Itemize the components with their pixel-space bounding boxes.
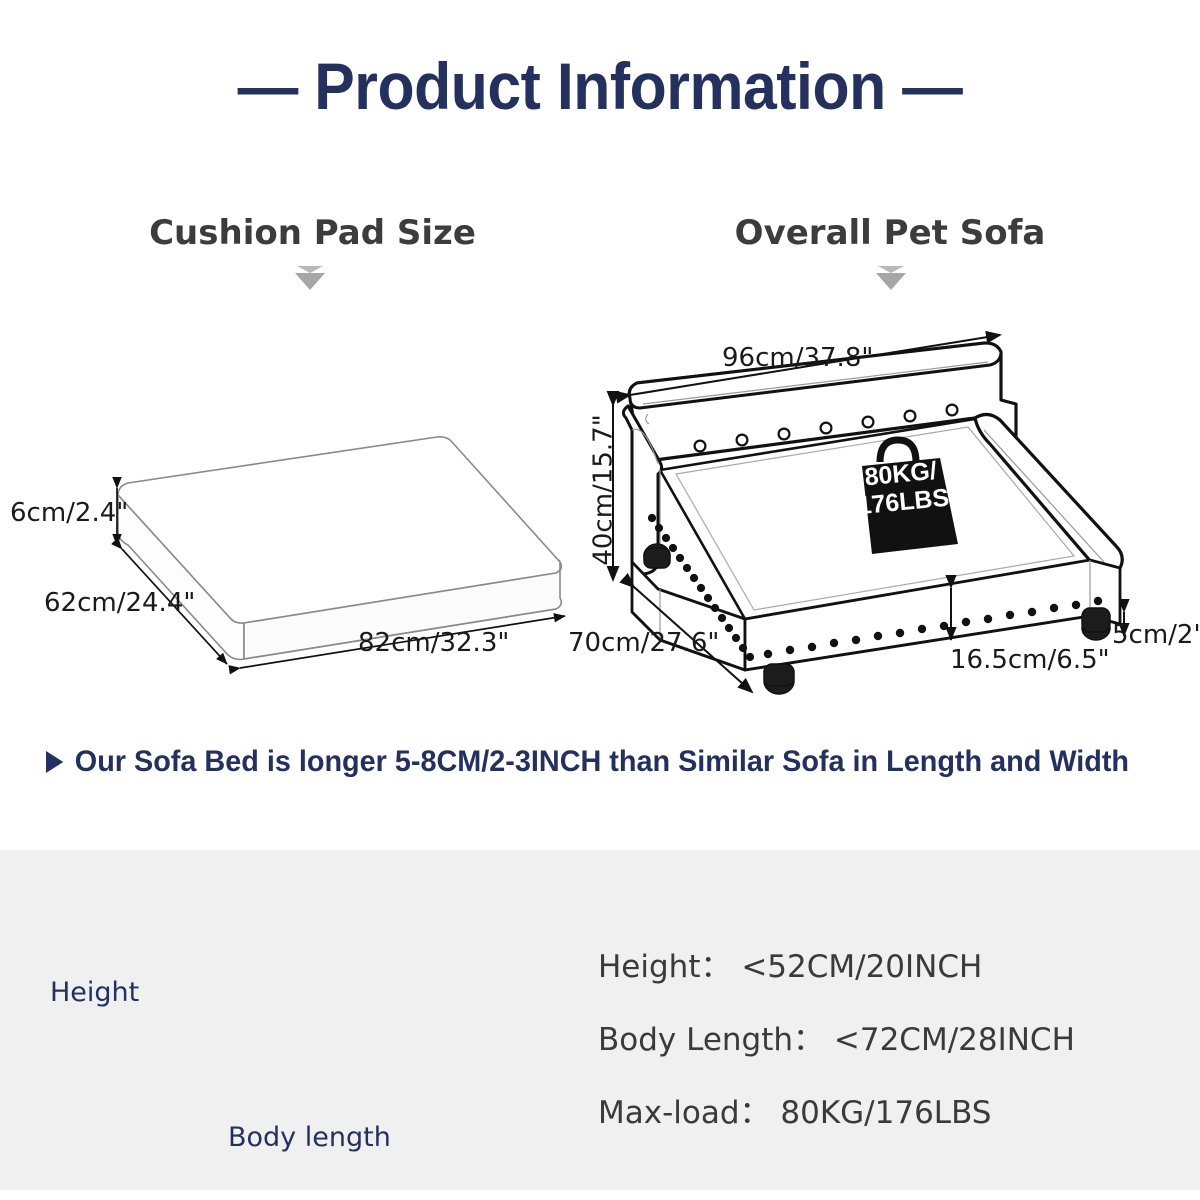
sofa-foot-height-label: 5cm/2": [1112, 620, 1200, 650]
sofa-width-label: 96cm/37.8": [722, 343, 873, 373]
sofa-height-label: 40cm/15.7": [589, 414, 619, 565]
dog-height-label: Height: [50, 977, 139, 1008]
spec-row-body-length: Body Length： <72CM/28INCH: [598, 1025, 1075, 1056]
weight-tag-text: 80KG/ 176LBS: [840, 454, 965, 521]
triangle-right-icon: [46, 751, 63, 773]
dog-body-length-label: Body length: [228, 1122, 391, 1153]
chevron-double-down-icon: [293, 265, 327, 291]
chevron-double-down-icon: [874, 265, 908, 291]
cushion-pad-illustration: [118, 437, 561, 660]
highlight-banner: Our Sofa Bed is longer 5-8CM/2-3INCH tha…: [46, 745, 1131, 779]
sofa-base-height-label: 16.5cm/6.5": [950, 645, 1110, 675]
section-heading-sofa: Overall Pet Sofa: [720, 213, 1060, 253]
spec-row-height: Height： <52CM/20INCH: [598, 952, 1075, 983]
cushion-depth-label: 62cm/24.4": [44, 588, 195, 618]
highlight-banner-text: Our Sofa Bed is longer 5-8CM/2-3INCH tha…: [75, 745, 1129, 779]
cushion-width-label: 82cm/32.3": [358, 628, 509, 658]
cushion-thickness-label: 6cm/2.4": [10, 498, 128, 528]
sofa-depth-label: 70cm/27.6": [568, 628, 719, 658]
pet-spec-list: Height： <52CM/20INCH Body Length： <72CM/…: [598, 952, 1075, 1171]
section-heading-cushion: Cushion Pad Size: [135, 213, 490, 253]
spec-row-max-load: Max-load： 80KG/176LBS: [598, 1098, 1075, 1129]
page-title: — Product Information —: [48, 48, 1152, 124]
